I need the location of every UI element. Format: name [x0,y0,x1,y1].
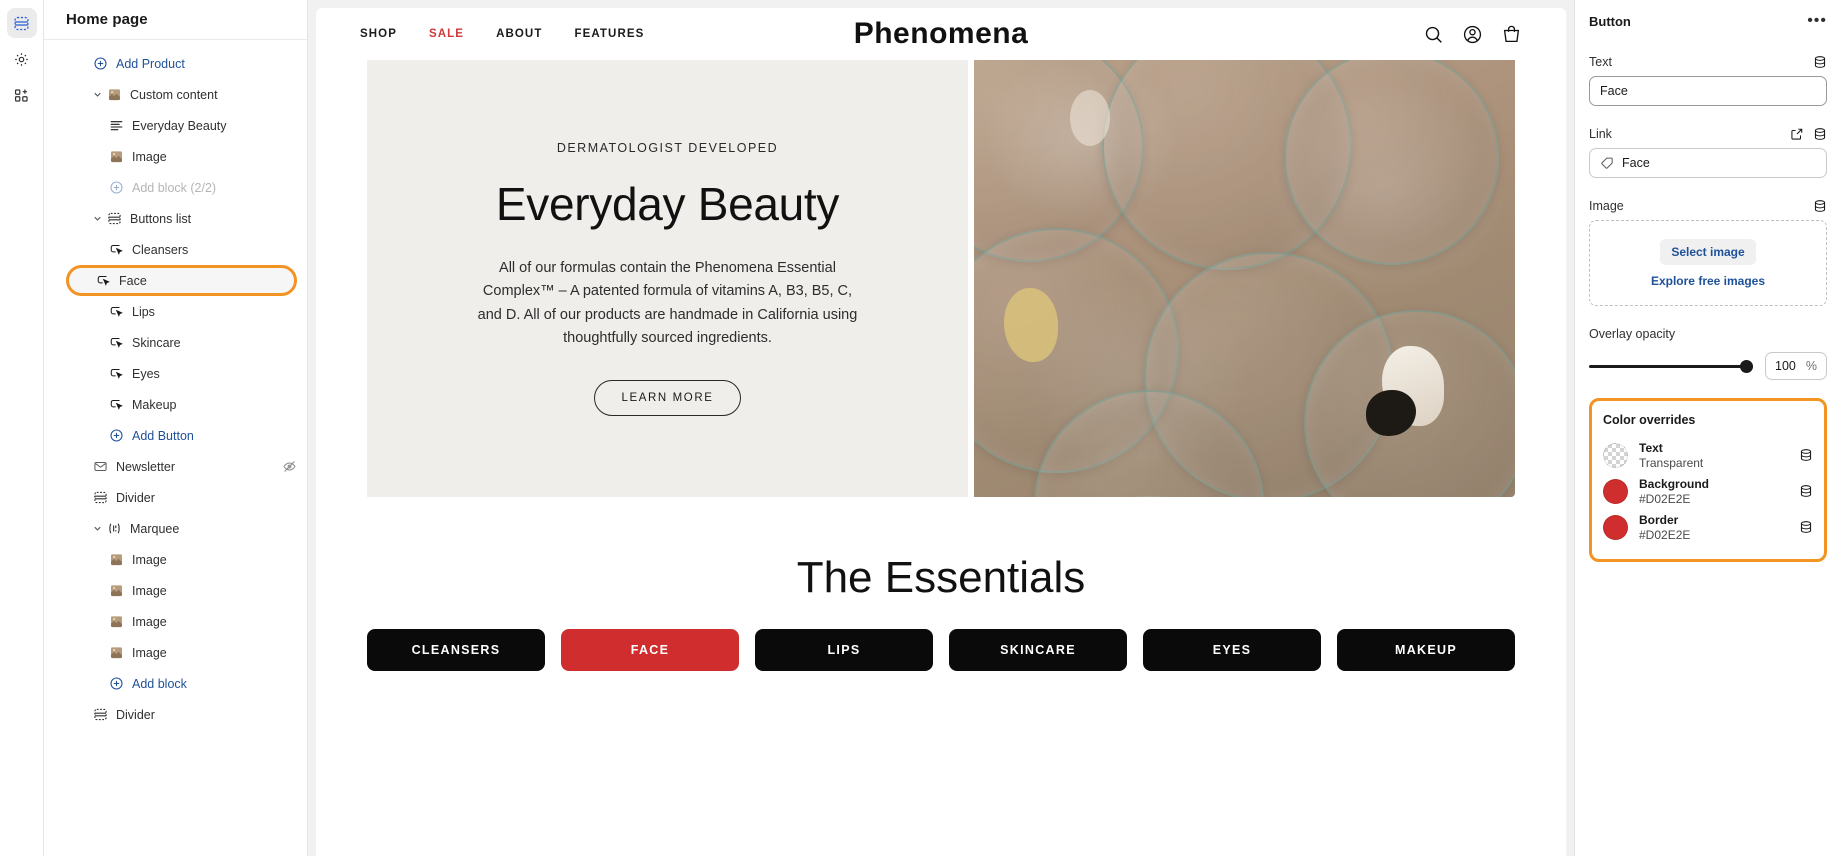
color-overrides-title: Color overrides [1603,413,1813,427]
image-icon [106,645,126,660]
overlay-opacity-value: 100 [1775,359,1796,373]
link-tag-icon [1600,156,1614,170]
inspector-title: Button [1589,14,1631,29]
tree-item-label: Add Button [132,429,194,443]
text-field-header: Text [1589,54,1827,70]
tree-item-divider[interactable]: Divider [44,699,307,730]
text-field-group: Text Face [1589,54,1827,106]
button-link-value: Face [1622,156,1650,170]
color-swatch[interactable] [1603,443,1628,468]
image-field-actions [1813,199,1827,213]
dynamic-source-icon[interactable] [1813,199,1827,213]
dynamic-source-icon[interactable] [1799,484,1813,498]
color-override-text: Text Transparent [1639,441,1703,470]
overlay-opacity-slider[interactable] [1589,357,1753,375]
tree-item-divider[interactable]: Divider [44,482,307,513]
tree-item-face[interactable]: Face [66,265,297,296]
button-icon [106,242,126,257]
color-override-value: Transparent [1639,456,1703,470]
sidebar-header: Home page [44,0,307,40]
image-icon [106,149,126,164]
page-sidebar: Home page Add Product Custom contentEver… [44,0,308,856]
nav-link-shop[interactable]: SHOP [360,28,397,40]
text-field-actions [1813,55,1827,69]
hero-paragraph: All of our formulas contain the Phenomen… [478,257,858,351]
button-icon [93,273,113,288]
text-lines-icon [106,118,126,133]
tree-item-label: Custom content [130,88,218,102]
essentials-button-face[interactable]: FACE [561,629,739,671]
color-override-value: #D02E2E [1639,528,1690,542]
tree-item-label: Image [132,584,167,598]
overlay-opacity-input[interactable]: 100 % [1765,352,1827,380]
nav-link-about[interactable]: ABOUT [496,28,542,40]
tree-item-image[interactable]: Image [44,637,307,668]
essentials-button-makeup[interactable]: MAKEUP [1337,629,1515,671]
tree-item-everyday-beauty[interactable]: Everyday Beauty [44,110,307,141]
tree-item-makeup[interactable]: Makeup [44,389,307,420]
plus-circle-icon [106,676,126,691]
tree-item-label: Face [119,274,147,288]
link-field-group: Link [1589,126,1827,178]
color-overrides-panel: Color overrides Text Transparent Backgro… [1589,398,1827,562]
cart-icon[interactable] [1501,24,1522,45]
app-root: Home page Add Product Custom contentEver… [0,0,1841,856]
tree-item-skincare[interactable]: Skincare [44,327,307,358]
account-icon[interactable] [1462,24,1483,45]
chevron-down-icon[interactable] [90,213,104,224]
hero-image [974,60,1515,497]
open-external-icon[interactable] [1790,127,1804,141]
link-field-header: Link [1589,126,1827,142]
plus-circle-icon [106,180,126,195]
image-field-label: Image [1589,199,1624,213]
tree-item-label: Add Product [116,57,185,71]
color-override-text: Border #D02E2E [1639,513,1690,542]
learn-more-button[interactable]: LEARN MORE [594,380,740,416]
tree-item-image[interactable]: Image [44,575,307,606]
hero-section: DERMATOLOGIST DEVELOPED Everyday Beauty … [316,60,1566,497]
tree-item-newsletter[interactable]: Newsletter [44,451,307,482]
hero-eyebrow: DERMATOLOGIST DEVELOPED [557,141,778,155]
button-text-input[interactable]: Face [1589,76,1827,106]
essentials-button-row: CLEANSERSFACELIPSSKINCAREEYESMAKEUP [316,629,1566,711]
tree-item-label: Image [132,553,167,567]
overlay-opacity-header: Overlay opacity [1589,326,1827,342]
dynamic-source-icon[interactable] [1799,448,1813,462]
sample-blob [1004,288,1058,362]
color-override-text: Background #D02E2E [1639,477,1709,506]
tree-item-label: Makeup [132,398,176,412]
tree-item-add-button[interactable]: Add Button [44,420,307,451]
tree-item-image[interactable]: Image [44,544,307,575]
essentials-button-skincare[interactable]: SKINCARE [949,629,1127,671]
rail-sections-button[interactable] [7,8,37,38]
image-icon [106,552,126,567]
icon-rail [0,0,44,856]
page-title: Home page [66,11,148,28]
tree-item-label: Cleansers [132,243,188,257]
color-override-value: #D02E2E [1639,492,1709,506]
link-field-actions [1790,127,1827,141]
essentials-button-eyes[interactable]: EYES [1143,629,1321,671]
plus-circle-icon [90,56,110,71]
essentials-button-lips[interactable]: LIPS [755,629,933,671]
storefront-actions [1423,24,1522,45]
envelope-icon [90,459,110,474]
tree-item-label: Image [132,646,167,660]
section-icon [90,707,110,722]
slider-track [1589,365,1753,368]
tree-item-label: Image [132,150,167,164]
color-override-row-text[interactable]: Text Transparent [1603,437,1813,473]
section-tree: Add Product Custom contentEveryday Beaut… [44,40,307,856]
canvas-area: SHOP SALE ABOUT FEATURES Phenomena [308,0,1574,856]
tree-item-add-product[interactable]: Add Product [44,48,307,79]
plus-circle-icon [106,428,126,443]
hero-heading: Everyday Beauty [496,177,839,231]
color-override-name: Background [1639,477,1709,491]
button-link-input[interactable]: Face [1589,148,1827,178]
image-icon [106,583,126,598]
dynamic-source-icon[interactable] [1813,55,1827,69]
tree-item-lips[interactable]: Lips [44,296,307,327]
inspector-header: Button ••• [1589,8,1827,34]
color-override-row-border[interactable]: Border #D02E2E [1603,509,1813,545]
dynamic-source-icon[interactable] [1813,127,1827,141]
tree-item-image[interactable]: Image [44,606,307,637]
storefront-preview: SHOP SALE ABOUT FEATURES Phenomena [316,8,1566,856]
section-icon [90,490,110,505]
chevron-down-icon[interactable] [90,523,104,534]
tree-item-label: Lips [132,305,155,319]
tree-item-label: Eyes [132,367,160,381]
tree-item-buttons-list[interactable]: Buttons list [44,203,307,234]
essentials-button-cleansers[interactable]: CLEANSERS [367,629,545,671]
tree-item-label: Everyday Beauty [132,119,227,133]
color-override-name: Text [1639,441,1703,455]
tree-item-marquee[interactable]: Marquee [44,513,307,544]
tree-item-label: Buttons list [130,212,191,226]
hidden-eye-icon[interactable] [282,459,297,474]
button-text-value: Face [1600,84,1628,98]
tree-item-label: Skincare [132,336,181,350]
sections-icon [13,15,30,32]
color-swatch[interactable] [1603,479,1628,504]
overlay-opacity-unit: % [1806,359,1817,373]
link-field-label: Link [1589,127,1612,141]
more-options-icon[interactable]: ••• [1807,13,1827,29]
tree-item-label: Image [132,615,167,629]
search-icon[interactable] [1423,24,1444,45]
color-override-row-background[interactable]: Background #D02E2E [1603,473,1813,509]
tree-item-label: Divider [116,708,155,722]
select-image-button[interactable]: Select image [1660,239,1755,265]
apps-add-icon [13,87,30,104]
slider-knob[interactable] [1740,360,1753,373]
tree-item-cleansers[interactable]: Cleansers [44,234,307,265]
inspector-panel: Button ••• Text Face [1574,0,1841,856]
button-icon [106,397,126,412]
nav-link-features[interactable]: FEATURES [574,28,644,40]
image-icon [106,614,126,629]
tree-item-image[interactable]: Image [44,141,307,172]
overlay-opacity-group: Overlay opacity 100 % [1589,326,1827,380]
image-field-header: Image [1589,198,1827,214]
button-icon [106,304,126,319]
button-icon [106,335,126,350]
gear-icon [13,51,30,68]
color-swatch[interactable] [1603,515,1628,540]
tree-item-label: Divider [116,491,155,505]
tree-item-custom-content[interactable]: Custom content [44,79,307,110]
petri-dish [1284,60,1499,265]
marquee-icon [104,521,124,536]
button-icon [106,366,126,381]
color-override-name: Border [1639,513,1690,527]
chevron-down-icon[interactable] [90,89,104,100]
image-field-group: Image Select image Explore free images [1589,198,1827,306]
tree-item-label: Marquee [130,522,179,536]
section-icon [104,211,124,226]
dynamic-source-icon[interactable] [1799,520,1813,534]
tree-item-eyes[interactable]: Eyes [44,358,307,389]
overlay-opacity-controls: 100 % [1589,352,1827,380]
rail-settings-button[interactable] [7,44,37,74]
hero-text-column: DERMATOLOGIST DEVELOPED Everyday Beauty … [367,60,968,497]
color-overrides-list: Text Transparent Background #D02E2E Bord… [1603,437,1813,545]
tree-item-label: Add block (2/2) [132,181,216,195]
text-field-label: Text [1589,55,1612,69]
essentials-heading: The Essentials [316,497,1566,629]
tree-item-label: Add block [132,677,187,691]
image-dropzone[interactable]: Select image Explore free images [1589,220,1827,306]
nav-link-sale[interactable]: SALE [429,28,464,40]
explore-free-images-link[interactable]: Explore free images [1651,274,1765,288]
overlay-opacity-label: Overlay opacity [1589,327,1675,341]
tree-item-add-block[interactable]: Add block [44,668,307,699]
image-icon [104,87,124,102]
tree-item-label: Newsletter [116,460,175,474]
sample-blob [1070,90,1110,146]
storefront-header: SHOP SALE ABOUT FEATURES Phenomena [316,8,1566,60]
storefront-nav-links: SHOP SALE ABOUT FEATURES [360,28,644,40]
rail-apps-button[interactable] [7,80,37,110]
tree-item-add-block-2-2[interactable]: Add block (2/2) [44,172,307,203]
